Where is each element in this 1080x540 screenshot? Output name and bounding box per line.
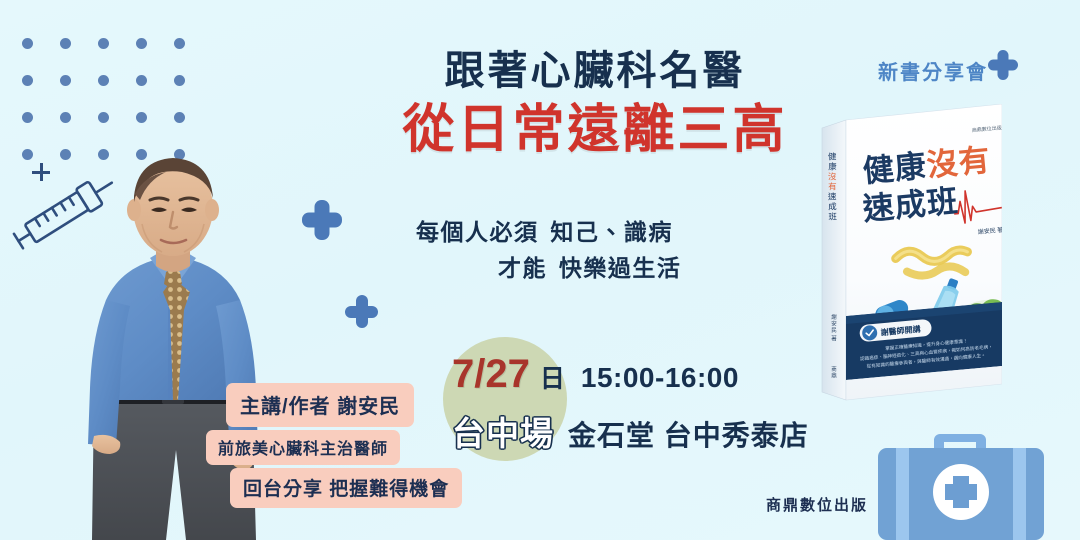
event-weekday: 日 [540, 359, 565, 395]
headline-block: 跟著心臟科名醫 從日常遠離三高 [380, 48, 810, 162]
dot-decoration [136, 75, 147, 86]
svg-text:沒有: 沒有 [827, 171, 838, 192]
subcopy-block: 每個人必須 知己、識病 才能 快樂過生活 [380, 215, 800, 286]
subcopy-line-1-plain: 每個人必須 [416, 219, 539, 245]
book-cover: 商鼎數位出版 健康 沒有 速成班 謝安民 著 [812, 104, 1002, 404]
subcopy-line-2-plain: 才能 [498, 255, 547, 281]
event-city: 台中場 [452, 407, 554, 455]
event-type-tagline: 新書分享會 [878, 56, 988, 85]
svg-text:謝安民 著: 謝安民 著 [830, 313, 837, 343]
publisher-footer: 商鼎數位出版 [766, 494, 868, 515]
poster-canvas: 新書分享會 跟著心臟科名醫 從日常遠離三高 每個人必須 知己、識病 才能 快樂過… [0, 0, 1080, 540]
speaker-note-badge: 回台分享 把握難得機會 [230, 468, 462, 508]
event-date: 7/27 [452, 352, 530, 397]
subcopy-line-1-highlight: 知己、識病 [546, 215, 677, 251]
svg-text:速成班: 速成班 [827, 191, 838, 222]
plus-icon [345, 295, 378, 328]
speaker-credential-badge: 前旅美心臟科主治醫師 [206, 430, 400, 465]
subcopy-line-2-highlight: 快樂過生活 [555, 251, 686, 287]
medical-bag-icon [866, 424, 1056, 540]
speaker-role-badge: 主講/作者 謝安民 [226, 383, 414, 427]
dot-decoration [22, 75, 33, 86]
headline-line-1: 跟著心臟科名醫 [380, 48, 810, 95]
dot-decoration [22, 112, 33, 123]
speaker-badges: 主講/作者 謝安民 前旅美心臟科主治醫師 回台分享 把握難得機會 [204, 383, 454, 508]
headline-line-2: 從日常遠離三高 [380, 99, 810, 161]
event-info-block: 7/27 日 15:00-16:00 台中場 金石堂 台中秀泰店 [452, 352, 872, 455]
svg-text:健康: 健康 [861, 148, 928, 189]
dot-grid-decoration [22, 38, 158, 168]
dot-decoration [136, 38, 147, 49]
svg-text:沒有: 沒有 [925, 142, 992, 183]
plus-icon [32, 163, 50, 181]
dot-decoration [174, 75, 185, 86]
plus-icon [988, 50, 1018, 80]
event-time: 15:00-16:00 [581, 362, 739, 394]
svg-text:商鼎: 商鼎 [830, 365, 837, 380]
dot-decoration [98, 112, 109, 123]
dot-decoration [98, 38, 109, 49]
dot-decoration [174, 38, 185, 49]
dot-decoration [60, 75, 71, 86]
dot-decoration [22, 38, 33, 49]
event-venue: 金石堂 台中秀泰店 [568, 414, 809, 454]
dot-decoration [22, 149, 33, 160]
plus-icon [302, 200, 342, 240]
dot-decoration [174, 112, 185, 123]
dot-decoration [60, 38, 71, 49]
subcopy-line-1: 每個人必須 知己、識病 [380, 215, 800, 251]
subcopy-line-2: 才能 快樂過生活 [380, 251, 800, 287]
dot-decoration [136, 112, 147, 123]
svg-text:健康: 健康 [827, 151, 838, 172]
dot-decoration [60, 112, 71, 123]
dot-decoration [98, 75, 109, 86]
